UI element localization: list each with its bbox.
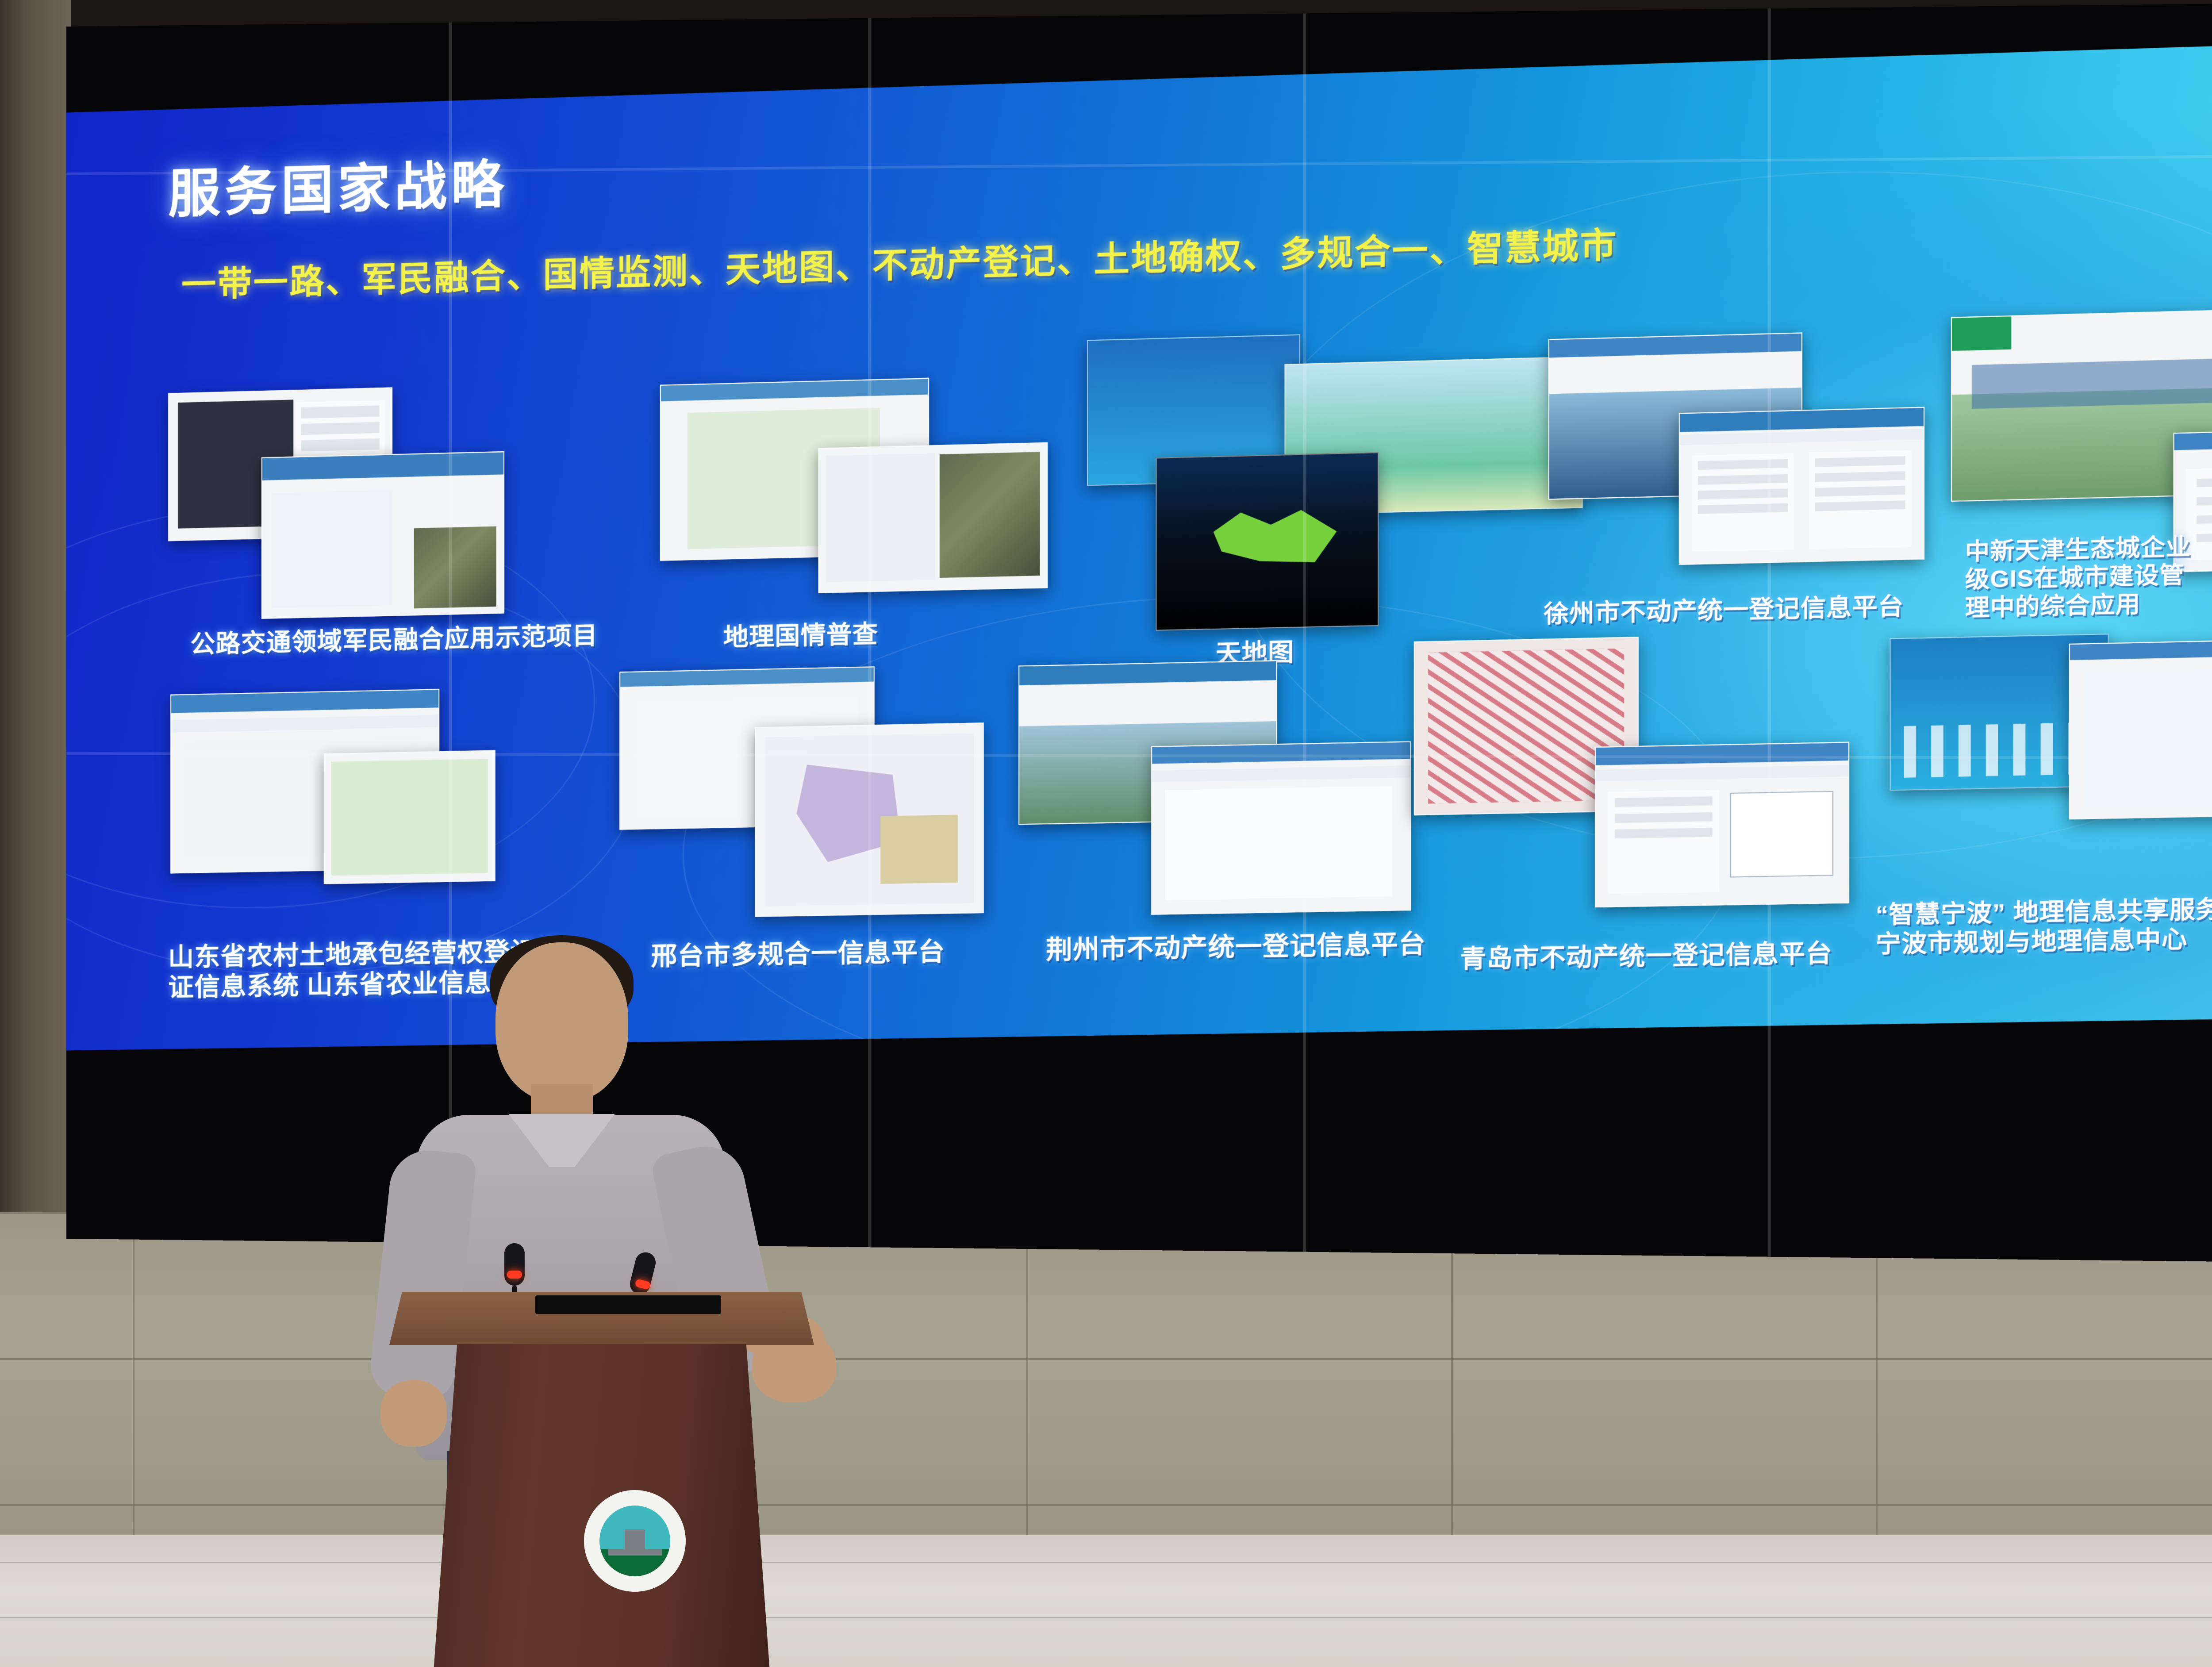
thumbnail-row2-5b[interactable]	[2069, 638, 2212, 819]
podium	[389, 1292, 814, 1667]
caption-row2-4: 青岛市不动产统一登记信息平台	[1460, 938, 1832, 974]
podium-control-panel[interactable]	[535, 1295, 721, 1314]
caption-row2-5: “智慧宁波” 地理信息共享服务平台 宁波市规划与地理信息中心	[1876, 895, 2212, 959]
university-emblem-icon	[584, 1490, 686, 1592]
room-lower-wall	[0, 1212, 2212, 1548]
video-wall-bezel-v3	[1303, 13, 1306, 1252]
thumbnail-row1-3c[interactable]	[1156, 452, 1379, 631]
caption-row1-5: 中新天津生态城企业 级GIS在城市建设管 理中的综合应用	[1965, 533, 2191, 622]
thumbnail-row1-5a[interactable]	[1951, 308, 2212, 502]
caption-row1-2: 地理国情普查	[723, 619, 878, 652]
thumbnail-row2-3b[interactable]	[1151, 741, 1411, 915]
caption-row2-3: 荆州市不动产统一登记信息平台	[1046, 929, 1426, 966]
thumbnail-row1-1b[interactable]	[261, 451, 504, 619]
university-emblem-inner	[599, 1506, 670, 1576]
podium-body	[434, 1344, 770, 1667]
thumbnail-row1-4b[interactable]	[1679, 407, 1924, 565]
thumbnail-row2-1b[interactable]	[324, 750, 495, 884]
video-wall-bezel-v2	[868, 18, 871, 1248]
room-floor	[0, 1535, 2212, 1667]
speaker-head	[495, 942, 628, 1102]
thumbnail-row2-4b[interactable]	[1595, 742, 1849, 908]
video-wall-bezel-v4	[1768, 8, 1771, 1257]
presentation-slide: 服务国家战略 一带一路、军民融合、国情监测、天地图、不动产登记、土地确权、多规合…	[66, 42, 2212, 1051]
screenshot-root: 服务国家战略 一带一路、军民融合、国情监测、天地图、不动产登记、土地确权、多规合…	[0, 0, 2212, 1667]
thumbnail-row1-2b[interactable]	[818, 442, 1048, 593]
slide-title: 服务国家战略	[168, 141, 508, 227]
